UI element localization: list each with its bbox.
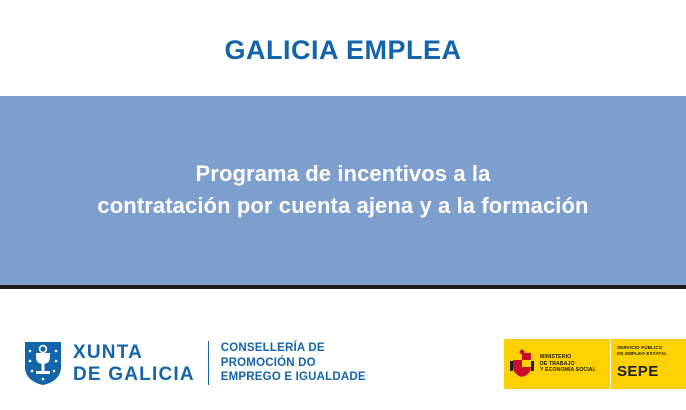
spain-coat-of-arms-icon xyxy=(509,347,535,381)
xunta-name-line-2: DE GALICIA xyxy=(73,365,195,384)
page-title: GALICIA EMPLEA xyxy=(224,35,461,66)
sepe-block: SERVICIO PÚBLICO DE EMPLEO ESTATAL SEPE xyxy=(610,339,686,389)
xunta-wordmark: XUNTA DE GALICIA xyxy=(73,343,195,384)
xunta-de-galicia-logo: XUNTA DE GALICIA CONSELLERÍA DE PROMOCIÓ… xyxy=(22,339,366,387)
subtitle-text-block: Programa de incentivos a la contratación… xyxy=(23,158,663,224)
ministerio-line-3: Y ECONOMÍA SOCIAL xyxy=(540,367,596,374)
ministerio-text: MINISTERIO DE TRABAJO Y ECONOMÍA SOCIAL xyxy=(540,354,596,374)
subtitle-banner: Programa de incentivos a la contratación… xyxy=(0,96,686,285)
conselleria-line-1: CONSELLERÍA DE xyxy=(221,341,366,356)
footer-area: XUNTA DE GALICIA CONSELLERÍA DE PROMOCIÓ… xyxy=(0,289,686,410)
poster-page: GALICIA EMPLEA Programa de incentivos a … xyxy=(0,0,686,410)
conselleria-text: CONSELLERÍA DE PROMOCIÓN DO EMPREGO E IG… xyxy=(221,341,366,385)
subtitle-line-2: contratación por cuenta ajena y a la for… xyxy=(23,190,663,222)
gobierno-de-espana-logo: MINISTERIO DE TRABAJO Y ECONOMÍA SOCIAL … xyxy=(504,339,686,389)
ministerio-line-1: MINISTERIO xyxy=(540,354,596,361)
ministerio-block: MINISTERIO DE TRABAJO Y ECONOMÍA SOCIAL xyxy=(504,339,610,389)
logo-divider xyxy=(208,341,209,385)
xunta-shield-icon xyxy=(22,339,64,387)
sepe-line-2: DE EMPLEO ESTATAL xyxy=(617,351,686,357)
sepe-acronym: SEPE xyxy=(617,363,686,380)
conselleria-line-2: PROMOCIÓN DO xyxy=(221,356,366,371)
conselleria-line-3: EMPREGO E IGUALDADE xyxy=(221,370,366,385)
header-area: GALICIA EMPLEA xyxy=(0,0,686,96)
subtitle-line-1: Programa de incentivos a la xyxy=(23,158,663,190)
xunta-name-line-1: XUNTA xyxy=(73,343,195,362)
